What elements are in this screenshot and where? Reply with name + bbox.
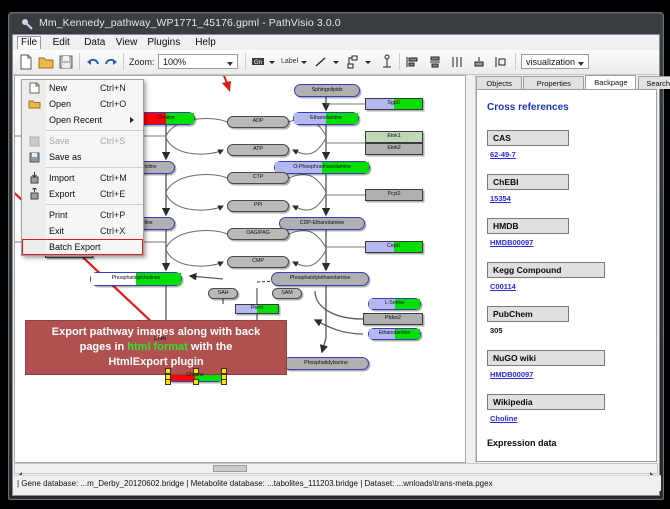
file-menu-item-save[interactable]: SaveCtrl+S <box>22 133 143 149</box>
file-menu-item-exit[interactable]: ExitCtrl+X <box>22 223 143 239</box>
menu-plugins[interactable]: Plugins <box>143 36 184 50</box>
interaction-dropdown-icon[interactable] <box>365 61 371 64</box>
metabolite-node-choline[interactable]: Choline <box>137 112 195 125</box>
selection-handle[interactable] <box>193 379 199 385</box>
metabolite-node-l-serine[interactable]: L-Serine <box>368 298 421 310</box>
node-label: ADP <box>253 119 264 124</box>
folder-open-icon <box>28 98 41 110</box>
zoom-select[interactable]: 100% <box>158 54 238 69</box>
tab-search[interactable]: Search <box>638 76 670 89</box>
node-label: SAM <box>281 291 292 296</box>
client-area: FileEditDataViewPluginsHelp Zoom: <box>12 34 660 496</box>
file-menu-accelerator: Ctrl+S <box>100 136 125 146</box>
chevron-down-icon <box>227 62 233 66</box>
menu-separator <box>46 167 143 168</box>
node-label: DAG/PAG <box>246 231 269 236</box>
node-label: Ptdss2 <box>385 316 401 321</box>
pathvisio-icon <box>21 18 33 30</box>
metabolite-node-phosphatidylserine[interactable]: Phosphatidylserine <box>283 357 369 370</box>
toolbar-separator-2 <box>123 53 124 70</box>
scrollbar-thumb[interactable] <box>213 465 247 472</box>
file-menu-dropdown[interactable]: NewCtrl+NOpenCtrl+OOpen RecentSaveCtrl+S… <box>21 79 144 256</box>
gene-node-pcyt2[interactable]: Pcyt2 <box>365 189 423 201</box>
toolbar: Zoom: 100% Gn Label <box>13 50 659 75</box>
node-label: Phosphatidylcholines <box>112 276 161 281</box>
metabolite-node-ethanolamine[interactable]: Ethanolamine <box>368 328 421 340</box>
xref-value-nugo-wiki[interactable]: HMDB00097 <box>490 370 533 379</box>
file-menu-label: Open <box>49 99 71 109</box>
file-menu-item-open-recent[interactable]: Open Recent <box>22 112 143 128</box>
metabolite-node-cdp-ethanolamine[interactable]: CDP-Ethanolamine <box>279 217 365 230</box>
datanode-icon[interactable]: Gn <box>251 55 265 68</box>
tab-objects[interactable]: Objects <box>476 76 522 89</box>
callout-line-3: HtmlExport plugin <box>52 355 260 370</box>
metabolite-node-phosphatidylethanolamine[interactable]: Phosphatidylethanolamine <box>271 272 369 286</box>
application-window: Mm_Kennedy_pathway_WP1771_45176.gpml - P… <box>8 12 664 500</box>
node-label: Phosphatidylethanolamine <box>290 276 351 281</box>
stackleft-icon[interactable] <box>493 54 509 70</box>
file-menu-accelerator: Ctrl+M <box>100 173 127 183</box>
selection-handle[interactable] <box>221 374 227 380</box>
node-label: Ethanolamine <box>379 331 411 336</box>
node-label: Etnk2 <box>387 146 400 151</box>
save-disabled-icon <box>28 135 41 147</box>
file-menu-accelerator: Ctrl+E <box>100 189 125 199</box>
node-label: CDP-Ethanolamine <box>300 221 345 226</box>
xref-value-wikipedia[interactable]: Choline <box>490 414 518 423</box>
file-menu-label: Save <box>49 136 70 146</box>
file-menu-item-batch-export[interactable]: Batch Export <box>22 239 143 255</box>
alignmiddle-icon[interactable] <box>427 54 443 70</box>
node-label: L-Serine <box>385 301 405 306</box>
file-menu-label: Exit <box>49 226 64 236</box>
xref-value-cas[interactable]: 62-49-7 <box>490 150 516 159</box>
file-menu-label: New <box>49 83 67 93</box>
menu-file[interactable]: File <box>17 36 41 49</box>
menu-bar: FileEditDataViewPluginsHelp <box>13 35 659 50</box>
new-document-icon[interactable] <box>18 54 34 70</box>
toolbar-separator-3 <box>245 53 246 70</box>
node-label: Choline <box>157 116 175 121</box>
toolbar-separator <box>79 53 80 70</box>
metabolite-node-atp[interactable]: ATP <box>227 144 289 156</box>
aligncenter-icon[interactable] <box>449 54 465 70</box>
metabolite-node-ppi[interactable]: PPi <box>227 200 289 212</box>
xref-source-kegg-compound: Kegg Compound <box>487 262 605 278</box>
alignleft-icon[interactable] <box>405 54 421 70</box>
file-menu-label: Print <box>49 210 68 220</box>
xref-value-hmdb[interactable]: HMDB00097 <box>490 238 533 247</box>
metabolite-node-cmp[interactable]: CMP <box>227 256 289 268</box>
status-text: | Gene database: ...m_Derby_20120602.bri… <box>17 479 493 488</box>
xref-source-hmdb: HMDB <box>487 218 569 234</box>
side-panel-tabs: ObjectsPropertiesBackpageSearchLegend <box>476 75 659 89</box>
window-title: Mm_Kennedy_pathway_WP1771_45176.gpml - P… <box>39 17 341 29</box>
gene-node-cept1[interactable]: Cept1 <box>365 241 423 253</box>
node-label: Cept1 <box>387 244 401 249</box>
xref-value-kegg-compound[interactable]: C00114 <box>490 282 516 291</box>
node-label: Pemt <box>251 306 263 311</box>
title-bar: Mm_Kennedy_pathway_WP1771_45176.gpml - P… <box>9 13 663 35</box>
gene-node-sgpl1[interactable]: Sgpl1 <box>365 98 423 110</box>
submenu-arrow-icon <box>130 117 134 123</box>
file-menu-item-import[interactable]: ImportCtrl+M <box>22 170 143 186</box>
menu-view[interactable]: View <box>112 36 142 50</box>
line-icon[interactable] <box>313 54 329 70</box>
xref-source-chebi: ChEBI <box>487 174 569 190</box>
node-label: Chkb <box>154 337 166 342</box>
node-label: Ethanolamine <box>310 116 342 121</box>
file-menu-item-save-as[interactable]: Save as <box>22 149 143 165</box>
side-panel: ObjectsPropertiesBackpageSearchLegend Cr… <box>468 75 659 463</box>
scroll-right-button[interactable] <box>647 465 656 472</box>
gene-node-etnk1[interactable]: Etnk1 <box>365 131 423 143</box>
metabolite-node-adp[interactable]: ADP <box>227 116 289 128</box>
svg-text:Gn: Gn <box>254 60 262 66</box>
label-tool-label[interactable]: Label <box>281 58 298 65</box>
file-menu-label: Open Recent <box>49 115 102 125</box>
node-label: CMP <box>252 259 264 264</box>
menu-edit[interactable]: Edit <box>49 36 74 50</box>
node-label: Sphingolipids <box>312 88 343 93</box>
visualization-value: visualization <box>526 57 575 67</box>
file-menu-label: Export <box>49 189 75 199</box>
redo-icon[interactable] <box>103 54 119 70</box>
status-bar: | Gene database: ...m_Derby_20120602.bri… <box>14 475 661 491</box>
xref-source-cas: CAS <box>487 130 569 146</box>
label-dropdown-icon[interactable] <box>301 61 307 64</box>
xref-value-chebi[interactable]: 15354 <box>490 194 511 203</box>
tab-properties[interactable]: Properties <box>523 76 584 89</box>
file-menu-items: NewCtrl+NOpenCtrl+OOpen RecentSaveCtrl+S… <box>22 80 143 255</box>
backpage-title: Cross references <box>487 102 569 113</box>
callout-line-2-prefix: pages in <box>80 341 128 353</box>
file-menu-accelerator: Ctrl+N <box>100 83 126 93</box>
selection-handle[interactable] <box>165 374 171 380</box>
side-panel-divider[interactable] <box>468 75 476 463</box>
node-label: PPi <box>254 203 262 208</box>
file-menu-label: Save as <box>49 152 82 162</box>
menu-data[interactable]: Data <box>80 36 109 50</box>
gene-node-pemt[interactable]: Pemt <box>235 304 279 314</box>
file-menu-label: Import <box>49 173 75 183</box>
save-icon[interactable] <box>58 54 74 70</box>
file-menu-label: Batch Export <box>49 242 101 252</box>
new-document-icon <box>28 82 41 94</box>
file-menu-item-export[interactable]: ExportCtrl+E <box>22 186 143 202</box>
gene-node-etnk2[interactable]: Etnk2 <box>365 143 423 155</box>
expression-data-heading: Expression data <box>487 438 557 448</box>
metabolite-node-o-phosphoethanolamine[interactable]: O-Phosphoethanolamine <box>274 161 370 174</box>
zoom-value: 100% <box>163 57 186 67</box>
toolbar-separator-4 <box>399 53 400 70</box>
file-menu-item-open[interactable]: OpenCtrl+O <box>22 96 143 112</box>
metabolite-node-dag-pag[interactable]: DAG/PAG <box>227 228 289 240</box>
undo-icon[interactable] <box>85 54 101 70</box>
metabolite-node-ethanolamine[interactable]: Ethanolamine <box>293 112 359 125</box>
metabolite-node-sphingolipids[interactable]: Sphingolipids <box>294 84 360 97</box>
metabolite-node-phosphatidylcholines[interactable]: Phosphatidylcholines <box>90 272 182 286</box>
anchor-icon[interactable] <box>379 54 395 70</box>
menu-separator <box>46 130 143 131</box>
node-label: ATP <box>253 147 263 152</box>
node-label: SAH <box>218 291 229 296</box>
node-label: Phosphatidylserine <box>304 361 348 366</box>
xref-source-nugo-wiki: NuGO wiki <box>487 350 605 366</box>
backpage-panel[interactable]: Cross references CAS62-49-7ChEBI15354HMD… <box>476 89 657 462</box>
file-menu-accelerator: Ctrl+X <box>100 226 125 236</box>
menu-help[interactable]: Help <box>191 36 220 50</box>
callout-line-2-suffix: with the <box>188 341 233 353</box>
save-as-icon <box>28 151 41 163</box>
datanode-dropdown-icon[interactable] <box>269 61 275 64</box>
folder-open-icon[interactable] <box>38 54 54 70</box>
interaction-icon[interactable] <box>345 54 361 70</box>
file-menu-item-print[interactable]: PrintCtrl+P <box>22 207 143 223</box>
file-menu-item-new[interactable]: NewCtrl+N <box>22 80 143 96</box>
node-label: Pcyt2 <box>388 192 401 197</box>
screenshot-root: Mm_Kennedy_pathway_WP1771_45176.gpml - P… <box>0 0 670 509</box>
xref-source-wikipedia: Wikipedia <box>487 394 605 410</box>
import-icon <box>28 172 41 184</box>
stacktop-icon[interactable] <box>471 54 487 70</box>
callout-highlight: html format <box>127 341 188 353</box>
toolbar-separator-5 <box>515 53 516 70</box>
node-label: CTP <box>253 175 263 180</box>
zoom-label: Zoom: <box>129 57 155 67</box>
horizontal-scrollbar[interactable] <box>14 463 658 474</box>
node-label: O-Phosphoethanolamine <box>293 165 351 170</box>
scroll-left-button[interactable] <box>16 465 25 472</box>
chevron-down-icon-2 <box>578 62 584 66</box>
metabolite-node-sam[interactable]: SAM <box>272 288 302 299</box>
metabolite-node-ctp[interactable]: CTP <box>227 172 289 184</box>
metabolite-node-sah[interactable]: SAH <box>208 288 238 299</box>
file-menu-accelerator: Ctrl+P <box>100 210 125 220</box>
visualization-select[interactable]: visualization <box>521 54 589 69</box>
file-menu-accelerator: Ctrl+O <box>100 99 126 109</box>
node-label: Sgpl1 <box>387 101 400 106</box>
xref-value-pubchem: 305 <box>490 326 503 335</box>
selection-handle[interactable] <box>193 368 199 374</box>
tab-backpage[interactable]: Backpage <box>585 75 636 89</box>
selection-handle[interactable] <box>165 379 171 385</box>
menu-separator <box>46 204 143 205</box>
line-dropdown-icon[interactable] <box>333 61 339 64</box>
xref-source-pubchem: PubChem <box>487 306 569 322</box>
annotation-callout: Export pathway images along with back pa… <box>25 320 287 375</box>
export-icon <box>28 188 41 200</box>
selection-handle[interactable] <box>221 379 227 385</box>
node-label: Etnk1 <box>387 134 400 139</box>
gene-node-ptdss2[interactable]: Ptdss2 <box>363 313 423 325</box>
